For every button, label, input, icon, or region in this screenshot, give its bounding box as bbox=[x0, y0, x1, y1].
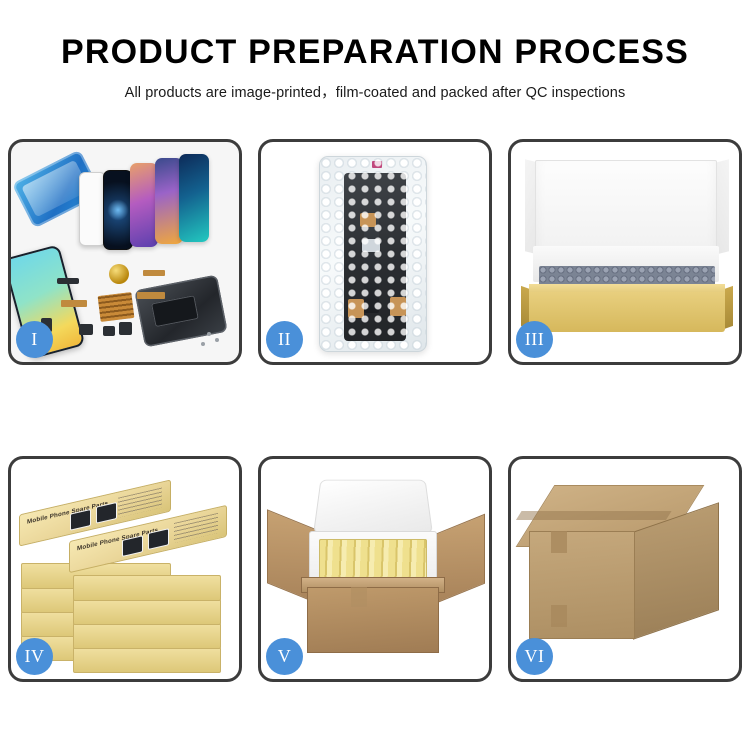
step-badge-6: VI bbox=[516, 638, 553, 675]
carton-seal-tape-top bbox=[551, 531, 567, 553]
foam-lid bbox=[313, 480, 433, 534]
flex-cable-2 bbox=[137, 292, 165, 299]
pink-label bbox=[372, 161, 382, 168]
step-panel-3: III bbox=[508, 139, 742, 365]
step-badge-2: II bbox=[266, 321, 303, 358]
stacked-box-7 bbox=[73, 599, 221, 625]
infographic-page: PRODUCT PREPARATION PROCESS All products… bbox=[0, 0, 750, 750]
box-label-front: Mobile Phone Spare Parts bbox=[77, 527, 158, 553]
carton-seal-tape-bottom bbox=[551, 605, 567, 627]
adhesive-tab-left bbox=[348, 299, 364, 318]
screw-2 bbox=[215, 338, 219, 342]
chip-part-3 bbox=[103, 326, 115, 336]
process-grid: I II bbox=[8, 139, 742, 682]
carton-tape-mark bbox=[351, 587, 367, 607]
yellow-tray-front bbox=[529, 292, 725, 332]
bubble-wrap-bag bbox=[319, 156, 427, 352]
lid-spec-lines-back bbox=[118, 488, 162, 518]
stacked-box-6 bbox=[73, 623, 221, 649]
header: PRODUCT PREPARATION PROCESS All products… bbox=[0, 0, 750, 102]
phone-screen-violet bbox=[130, 163, 158, 247]
step-panel-5: V bbox=[258, 456, 492, 682]
step-panel-6: VI bbox=[508, 456, 742, 682]
flex-cable-3 bbox=[143, 270, 165, 276]
flex-cable-1 bbox=[61, 300, 87, 307]
carton-front-face bbox=[529, 531, 635, 639]
adhesive-tab-top bbox=[360, 213, 376, 227]
yellow-boxes-inside bbox=[319, 539, 427, 581]
connector-grid-part bbox=[98, 292, 135, 322]
lcd-flex-strip bbox=[364, 217, 379, 313]
phone-back-housing bbox=[134, 275, 228, 348]
carton-front bbox=[307, 587, 439, 653]
step-panel-2: II bbox=[258, 139, 492, 365]
step-badge-3: III bbox=[516, 321, 553, 358]
lcd-connector bbox=[362, 239, 380, 252]
step-panel-4: Mobile Phone Spare Parts Mobile Phone Sp… bbox=[8, 456, 242, 682]
adhesive-tab-right bbox=[390, 297, 406, 316]
step-badge-1: I bbox=[16, 321, 53, 358]
step-badge-4: IV bbox=[16, 638, 53, 675]
chip-part-1 bbox=[57, 278, 79, 284]
page-subtitle: All products are image-printed，film-coat… bbox=[0, 81, 750, 102]
page-title: PRODUCT PREPARATION PROCESS bbox=[0, 32, 750, 72]
screw-1 bbox=[207, 332, 211, 336]
speaker-coil-part bbox=[109, 264, 129, 284]
phone-screen-dark bbox=[103, 170, 133, 250]
stacked-box-8 bbox=[73, 575, 221, 601]
chip-part-4 bbox=[119, 322, 132, 335]
stacked-box-5 bbox=[73, 647, 221, 673]
glass-screen-protector bbox=[79, 172, 106, 246]
screw-3 bbox=[201, 342, 205, 346]
step-panel-1: I bbox=[8, 139, 242, 365]
lid-screen-graphic-1 bbox=[122, 535, 143, 557]
step-badge-5: V bbox=[266, 638, 303, 675]
lid-screen-graphic-2 bbox=[148, 528, 169, 550]
lid-screen-graphic-4 bbox=[96, 502, 117, 524]
carton-top-seam bbox=[516, 511, 672, 520]
phone-screen-teal bbox=[179, 154, 209, 242]
chip-part-2 bbox=[79, 324, 93, 335]
lid-spec-lines-front bbox=[174, 513, 218, 543]
lid-screen-graphic-3 bbox=[70, 509, 91, 531]
